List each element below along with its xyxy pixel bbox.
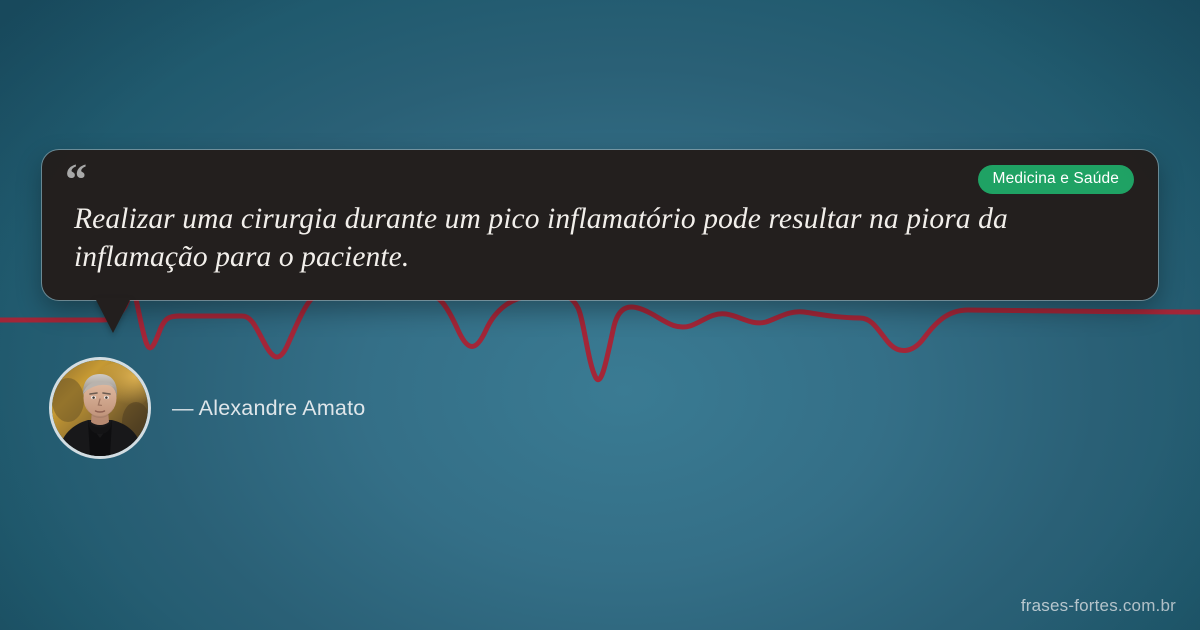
author-name: — Alexandre Amato bbox=[172, 396, 365, 421]
heartbeat-line-path bbox=[0, 288, 1200, 380]
quote-text: Realizar uma cirurgia durante um pico in… bbox=[74, 200, 1129, 276]
author-portrait-avatar bbox=[52, 360, 148, 456]
quote-card-canvas: “ Realizar uma cirurgia durante um pico … bbox=[0, 0, 1200, 630]
site-credit: frases-fortes.com.br bbox=[1021, 596, 1176, 616]
category-badge[interactable]: Medicina e Saúde bbox=[978, 165, 1134, 194]
quote-card: “ Realizar uma cirurgia durante um pico … bbox=[42, 150, 1158, 300]
speech-bubble-tail bbox=[95, 298, 131, 333]
double-quote-icon: “ bbox=[65, 158, 88, 202]
